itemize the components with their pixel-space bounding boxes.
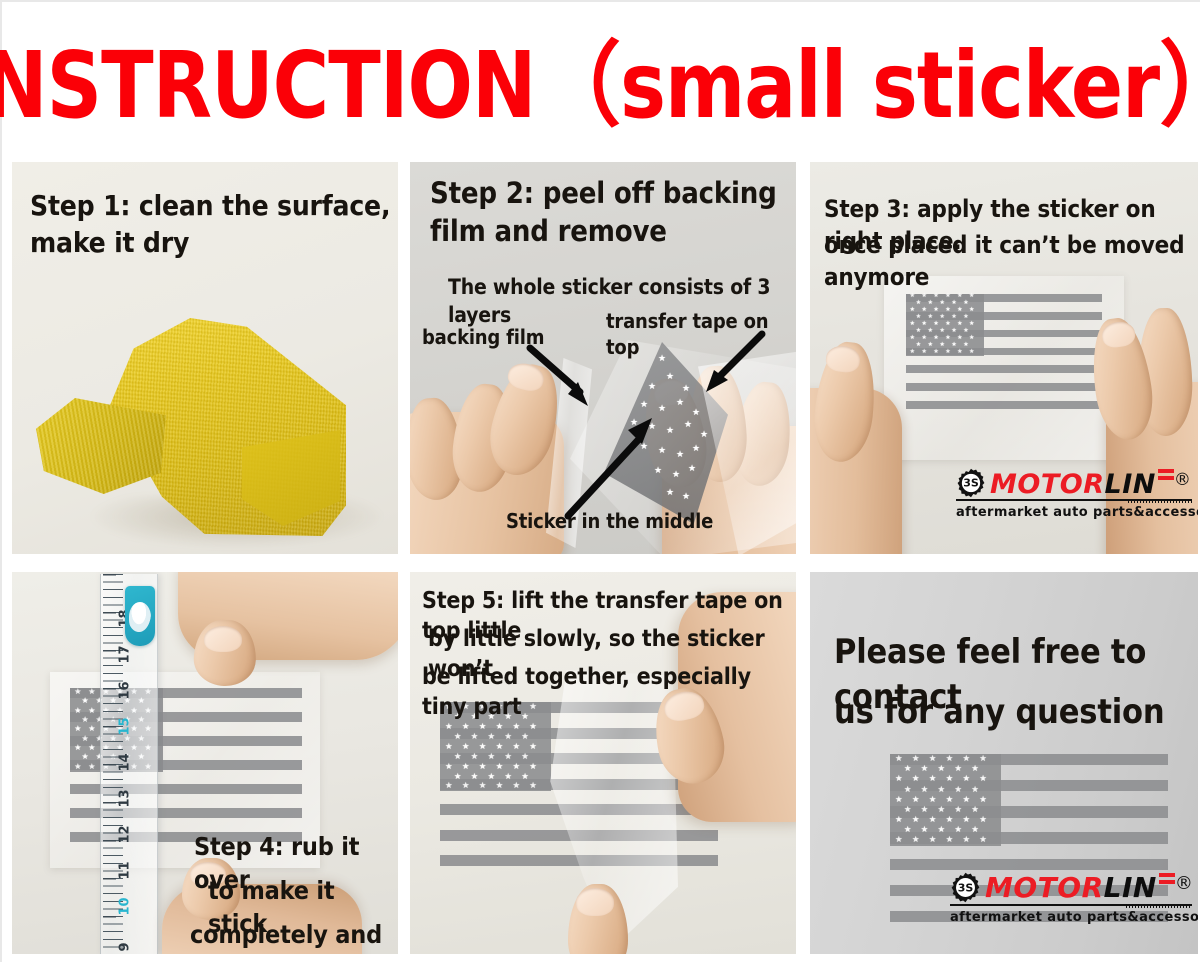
flag-star-icon: ★ bbox=[88, 725, 95, 733]
ruler-number: 13 bbox=[118, 789, 133, 807]
gear-icon: 3S bbox=[950, 872, 981, 903]
panel-step-5: Step 5: lift the transfer tape on top li… bbox=[410, 572, 796, 954]
flag-star-icon: ★ bbox=[928, 343, 933, 349]
flag-star-icon: ★ bbox=[939, 315, 944, 321]
flag-star-icon: ★ bbox=[954, 825, 962, 834]
flag-star-icon: ★ bbox=[929, 795, 937, 804]
flag-star-icon: ★ bbox=[895, 774, 903, 783]
flag-star-icon: ★ bbox=[969, 322, 974, 328]
flag-star-icon: ★ bbox=[946, 795, 954, 804]
flag-star-icon: ★ bbox=[938, 825, 946, 834]
flag-star-icon: ★ bbox=[912, 815, 920, 824]
flag-star-icon: ★ bbox=[904, 825, 912, 834]
top-hand bbox=[178, 572, 398, 682]
gear-icon: 3S bbox=[956, 468, 986, 498]
flag-star-icon: ★ bbox=[939, 301, 944, 307]
flag-star-icon: ★ bbox=[933, 294, 938, 300]
ruler-number: 11 bbox=[118, 861, 133, 879]
logo-word-lin: LIN bbox=[1104, 871, 1157, 904]
flag-star-icon: ★ bbox=[938, 805, 946, 814]
flag-star-icon: ★ bbox=[921, 785, 929, 794]
panel-step-4: ★★★★★★★★★★★★★★★★★★★★★★★★★★★★★★★★★★★★★★★★… bbox=[12, 572, 398, 954]
flag-star-icon: ★ bbox=[933, 336, 938, 342]
logo-divider bbox=[950, 904, 1192, 908]
flag-star-icon: ★ bbox=[912, 835, 920, 844]
flag-star-icon: ★ bbox=[666, 372, 674, 381]
flag-star-icon: ★ bbox=[969, 336, 974, 342]
ruler-number: 14 bbox=[118, 753, 133, 771]
flag-star-icon: ★ bbox=[954, 785, 962, 794]
flag-star-icon: ★ bbox=[471, 752, 479, 761]
logo-word-motor: MOTOR bbox=[985, 871, 1104, 904]
flag-star-icon: ★ bbox=[928, 329, 933, 335]
flag-star-icon: ★ bbox=[963, 343, 968, 349]
flag-star-icon: ★ bbox=[945, 336, 950, 342]
flag-star-icon: ★ bbox=[512, 762, 520, 771]
flag-star-icon: ★ bbox=[479, 762, 487, 771]
flag-star-icon: ★ bbox=[954, 805, 962, 814]
logo-divider bbox=[956, 499, 1192, 503]
flag-star-icon: ★ bbox=[445, 781, 453, 790]
flag-star-icon: ★ bbox=[504, 752, 512, 761]
flag-stripe bbox=[890, 859, 1168, 870]
arrow-sticker-middle bbox=[562, 412, 658, 520]
logo-word-motor: MOTOR bbox=[990, 469, 1104, 500]
ruler-number: 17 bbox=[118, 645, 133, 663]
flag-star-icon: ★ bbox=[462, 781, 470, 790]
flag-star-icon: ★ bbox=[951, 329, 956, 335]
flag-stripe bbox=[906, 383, 1102, 391]
logo-wordmark-row: 3S MOTORLIN ® bbox=[956, 468, 1192, 498]
flag-star-icon: ★ bbox=[933, 322, 938, 328]
flag-star-icon: ★ bbox=[962, 795, 970, 804]
flag-star-icon: ★ bbox=[445, 722, 453, 731]
flag-star-icon: ★ bbox=[933, 350, 938, 356]
flag-star-icon: ★ bbox=[916, 301, 921, 307]
flag-star-icon: ★ bbox=[939, 343, 944, 349]
flag-star-icon: ★ bbox=[945, 294, 950, 300]
bottom-fingernail bbox=[576, 888, 614, 916]
flag-star-icon: ★ bbox=[74, 763, 81, 771]
flag-star-icon: ★ bbox=[666, 426, 674, 435]
flag-star-icon: ★ bbox=[963, 315, 968, 321]
flag-star-icon: ★ bbox=[529, 722, 537, 731]
motorline-logo: 3S MOTORLIN ® aftermarket auto parts&acc… bbox=[950, 872, 1192, 925]
ruler-number: 15 bbox=[118, 717, 133, 735]
flag-star-icon: ★ bbox=[969, 294, 974, 300]
flag-star-icon: ★ bbox=[929, 754, 937, 763]
flag-star-icon: ★ bbox=[676, 398, 684, 407]
arrow-backing-film bbox=[528, 344, 596, 410]
step-3-caption-line2: once placed it can’t be moved anymore bbox=[824, 230, 1198, 293]
flag-star-icon: ★ bbox=[471, 772, 479, 781]
flag-star-icon: ★ bbox=[700, 430, 708, 439]
ruler-number: 12 bbox=[118, 825, 133, 843]
flag-star-icon: ★ bbox=[445, 742, 453, 751]
flag-star-icon: ★ bbox=[951, 343, 956, 349]
flag-star-icon: ★ bbox=[954, 764, 962, 773]
flag-star-icon: ★ bbox=[658, 446, 666, 455]
panel-step-2: Step 2: peel off backing film and remove… bbox=[410, 162, 796, 554]
flag-star-icon: ★ bbox=[512, 742, 520, 751]
flag-star-icon: ★ bbox=[921, 825, 929, 834]
flag-star-icon: ★ bbox=[957, 336, 962, 342]
flag-star-icon: ★ bbox=[462, 722, 470, 731]
flag-star-icon: ★ bbox=[692, 444, 700, 453]
panel-step-1: Step 1: clean the surface, make it dry bbox=[12, 162, 398, 554]
flag-star-icon: ★ bbox=[512, 781, 520, 790]
flag-star-icon: ★ bbox=[82, 697, 89, 705]
flag-star-icon: ★ bbox=[963, 301, 968, 307]
flag-star-icon: ★ bbox=[895, 795, 903, 804]
flag-star-icon: ★ bbox=[471, 732, 479, 741]
flag-star-icon: ★ bbox=[88, 763, 95, 771]
step-2-caption: Step 2: peel off backing film and remove bbox=[430, 174, 796, 251]
flag-star-icon: ★ bbox=[512, 722, 520, 731]
flag-star-icon: ★ bbox=[904, 785, 912, 794]
flag-star-icon: ★ bbox=[895, 815, 903, 824]
flag-star-icon: ★ bbox=[445, 762, 453, 771]
flag-star-icon: ★ bbox=[672, 470, 680, 479]
logo-tagline: aftermarket auto parts&accessories bbox=[956, 505, 1192, 520]
flag-star-icon: ★ bbox=[88, 688, 95, 696]
label-backing-film: backing film bbox=[422, 324, 544, 350]
towel-shape bbox=[32, 310, 384, 542]
flag-star-icon: ★ bbox=[945, 322, 950, 328]
flag-star-icon: ★ bbox=[895, 835, 903, 844]
flag-star-icon: ★ bbox=[479, 742, 487, 751]
flag-star-icon: ★ bbox=[479, 722, 487, 731]
flag-star-icon: ★ bbox=[666, 488, 674, 497]
flag-star-icon: ★ bbox=[971, 785, 979, 794]
logo-word-lin: LIN bbox=[1104, 469, 1155, 500]
flag-star-icon: ★ bbox=[929, 835, 937, 844]
flag-star-icon: ★ bbox=[640, 400, 648, 409]
flag-star-icon: ★ bbox=[969, 308, 974, 314]
flag-star-icon: ★ bbox=[912, 795, 920, 804]
flag-star-icon: ★ bbox=[488, 752, 496, 761]
flag-star-icon: ★ bbox=[74, 688, 81, 696]
panel-contact: Please feel free to contact us for any q… bbox=[810, 572, 1198, 954]
flag-star-icon: ★ bbox=[921, 805, 929, 814]
ruler-number: 9 bbox=[118, 942, 133, 951]
flag-star-icon: ★ bbox=[916, 315, 921, 321]
flag-star-icon: ★ bbox=[963, 329, 968, 335]
flag-star-icon: ★ bbox=[904, 805, 912, 814]
towel-photo bbox=[16, 310, 396, 554]
step-5-caption-line3: be lifted together, especially tiny part bbox=[422, 662, 796, 723]
registered-trademark-icon: ® bbox=[1175, 873, 1194, 894]
flag-star-icon: ★ bbox=[912, 774, 920, 783]
logo-word: MOTORLIN ® bbox=[990, 469, 1191, 498]
flag-star-icon: ★ bbox=[479, 781, 487, 790]
flag-star-icon: ★ bbox=[648, 382, 656, 391]
flag-star-icon: ★ bbox=[957, 350, 962, 356]
ruler-number: 16 bbox=[118, 681, 133, 699]
flag-star-icon: ★ bbox=[910, 322, 915, 328]
flag-star-icon: ★ bbox=[945, 350, 950, 356]
flag-star-icon: ★ bbox=[910, 308, 915, 314]
flag-star-icon: ★ bbox=[946, 835, 954, 844]
flag-star-icon: ★ bbox=[962, 815, 970, 824]
ruler-number: 10 bbox=[118, 897, 133, 915]
flag-star-icon: ★ bbox=[521, 732, 529, 741]
logo-badge-3s: 3S bbox=[963, 477, 979, 490]
flag-star-icon: ★ bbox=[82, 753, 89, 761]
flag-star-icon: ★ bbox=[910, 336, 915, 342]
flag-star-icon: ★ bbox=[938, 764, 946, 773]
flag-star-icon: ★ bbox=[928, 301, 933, 307]
step-4-caption-line3: completely and firmly bbox=[190, 918, 398, 954]
logo-badge-3s: 3S bbox=[958, 881, 974, 894]
flag-star-icon: ★ bbox=[971, 805, 979, 814]
flag-star-icon: ★ bbox=[684, 420, 692, 429]
flag-star-icon: ★ bbox=[74, 744, 81, 752]
flag-star-icon: ★ bbox=[488, 772, 496, 781]
flag-star-icon: ★ bbox=[88, 744, 95, 752]
ruler-decal-sticker bbox=[125, 586, 155, 646]
flag-star-icon: ★ bbox=[912, 754, 920, 763]
flag-star-icon: ★ bbox=[676, 450, 684, 459]
flag-star-icon: ★ bbox=[521, 772, 529, 781]
motorline-logo: 3S MOTORLIN ® aftermarket auto parts&acc… bbox=[956, 468, 1192, 520]
flag-star-icon: ★ bbox=[488, 732, 496, 741]
cartoon-figure-icon bbox=[129, 602, 151, 632]
logo-word: MOTORLIN ® bbox=[985, 873, 1193, 902]
flag-star-icon: ★ bbox=[962, 754, 970, 763]
flag-star-icon: ★ bbox=[496, 742, 504, 751]
flag-star-icon: ★ bbox=[979, 815, 987, 824]
flag-star-icon: ★ bbox=[928, 315, 933, 321]
flag-star-icon: ★ bbox=[88, 707, 95, 715]
flag-star-icon: ★ bbox=[74, 707, 81, 715]
flag-star-icon: ★ bbox=[921, 308, 926, 314]
panel-step-3: Step 3: apply the sticker on right place… bbox=[810, 162, 1198, 554]
flag-star-icon: ★ bbox=[969, 350, 974, 356]
logo-wordmark-row: 3S MOTORLIN ® bbox=[950, 872, 1192, 903]
flag-star-icon: ★ bbox=[74, 725, 81, 733]
flag-star-icon: ★ bbox=[529, 781, 537, 790]
flag-star-icon: ★ bbox=[504, 772, 512, 781]
flag-star-icon: ★ bbox=[504, 732, 512, 741]
flag-star-icon: ★ bbox=[951, 315, 956, 321]
flag-star-icon: ★ bbox=[454, 752, 462, 761]
flag-star-icon: ★ bbox=[957, 322, 962, 328]
flag-star-icon: ★ bbox=[938, 785, 946, 794]
flag-star-icon: ★ bbox=[529, 742, 537, 751]
flag-star-icon: ★ bbox=[682, 492, 690, 501]
flag-star-icon: ★ bbox=[946, 754, 954, 763]
flag-star-icon: ★ bbox=[82, 735, 89, 743]
flag-star-icon: ★ bbox=[82, 716, 89, 724]
flag-star-icon: ★ bbox=[496, 762, 504, 771]
flag-stripe bbox=[906, 401, 1102, 409]
flag-star-icon: ★ bbox=[957, 308, 962, 314]
flag-star-icon: ★ bbox=[895, 754, 903, 763]
flag-star-icon: ★ bbox=[957, 294, 962, 300]
flag-star-icon: ★ bbox=[904, 764, 912, 773]
flag-star-icon: ★ bbox=[979, 774, 987, 783]
page-title-text: INSTRUCTION（small sticker） bbox=[0, 39, 1200, 133]
flag-star-icon: ★ bbox=[496, 722, 504, 731]
flag-star-icon: ★ bbox=[929, 815, 937, 824]
equals-mark-icon bbox=[1159, 873, 1175, 891]
flag-star-icon: ★ bbox=[658, 404, 666, 413]
flag-star-icon: ★ bbox=[521, 752, 529, 761]
instruction-sheet: INSTRUCTION（small sticker） Step 1: clean… bbox=[0, 0, 1200, 962]
equals-mark-icon bbox=[1158, 469, 1174, 487]
flag-star-icon: ★ bbox=[921, 322, 926, 328]
flag-star-icon: ★ bbox=[979, 795, 987, 804]
flag-star-icon: ★ bbox=[971, 825, 979, 834]
flag-stripe bbox=[906, 365, 1102, 373]
left-hand bbox=[810, 342, 924, 554]
flag-star-icon: ★ bbox=[921, 764, 929, 773]
flag-star-icon: ★ bbox=[939, 329, 944, 335]
flag-star-icon: ★ bbox=[921, 294, 926, 300]
ruler-major-ticks bbox=[103, 574, 116, 954]
towel-folded-corner bbox=[36, 398, 166, 494]
flag-star-icon: ★ bbox=[951, 301, 956, 307]
flag-star-icon: ★ bbox=[979, 835, 987, 844]
flag-star-icon: ★ bbox=[688, 464, 696, 473]
logo-divider-hatch bbox=[1128, 499, 1192, 503]
flag-star-icon: ★ bbox=[921, 336, 926, 342]
flag-star-icon: ★ bbox=[946, 815, 954, 824]
flag-star-icon: ★ bbox=[529, 762, 537, 771]
flag-star-icon: ★ bbox=[946, 774, 954, 783]
logo-divider-hatch bbox=[1126, 904, 1192, 908]
arrow-transfer-tape bbox=[696, 330, 766, 400]
contact-caption-line2: us for any question bbox=[834, 690, 1164, 735]
bottom-hand bbox=[558, 884, 668, 954]
flag-star-icon: ★ bbox=[462, 742, 470, 751]
flag-canton: ★★★★★★★★★★★★★★★★★★★★★★★★★★★★★★★★★★★★★★★★… bbox=[890, 754, 1001, 846]
flag-star-icon: ★ bbox=[979, 754, 987, 763]
ruler: 1817161514131211109 bbox=[100, 574, 158, 954]
top-thumbnail bbox=[204, 626, 242, 652]
logo-tagline: aftermarket auto parts&accessories bbox=[950, 910, 1192, 925]
flag-star-icon: ★ bbox=[933, 308, 938, 314]
flag-star-icon: ★ bbox=[916, 329, 921, 335]
registered-trademark-icon: ® bbox=[1174, 470, 1192, 490]
flag-star-icon: ★ bbox=[945, 308, 950, 314]
flag-star-icon: ★ bbox=[462, 762, 470, 771]
flag-star-icon: ★ bbox=[929, 774, 937, 783]
step-1-caption: Step 1: clean the surface, make it dry bbox=[30, 188, 398, 262]
flag-star-icon: ★ bbox=[496, 781, 504, 790]
flag-star-icon: ★ bbox=[962, 835, 970, 844]
us-flag-decal: ★★★★★★★★★★★★★★★★★★★★★★★★★★★★★★★★★★★★★★★★… bbox=[906, 294, 1102, 410]
flag-star-icon: ★ bbox=[962, 774, 970, 783]
flag-star-icon: ★ bbox=[454, 772, 462, 781]
flag-star-icon: ★ bbox=[454, 732, 462, 741]
flag-star-icon: ★ bbox=[682, 384, 690, 393]
flag-star-icon: ★ bbox=[910, 294, 915, 300]
flag-star-icon: ★ bbox=[971, 764, 979, 773]
page-title: INSTRUCTION（small sticker） bbox=[0, 34, 1200, 138]
flag-star-icon: ★ bbox=[692, 408, 700, 417]
